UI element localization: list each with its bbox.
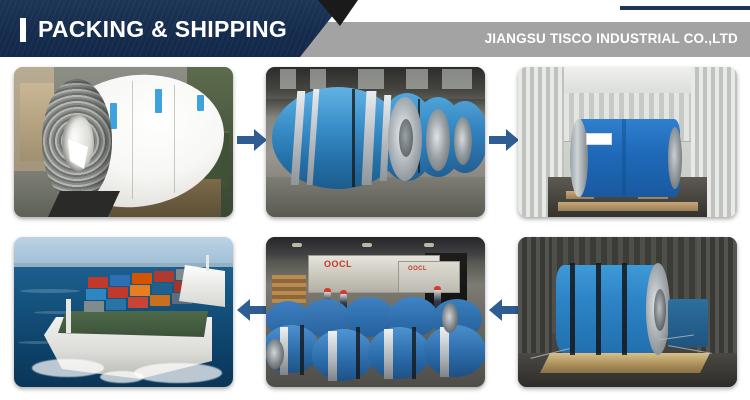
photo-image [266,67,485,217]
photo-container-vessel[interactable] [14,237,233,387]
arrow-loading-to-vessel [237,297,267,323]
photo-image [14,237,233,387]
photo-coil-in-white-container[interactable] [518,67,737,217]
arrow-coil-to-warehouse [237,127,267,153]
photo-gallery: OOCL OOCL [0,57,750,400]
photo-image [14,67,233,217]
page-title: PACKING & SHIPPING [38,14,287,44]
title-accent-tick [20,18,26,42]
company-name: JIANGSU TISCO INDUSTRIAL CO.,LTD [485,29,738,49]
photo-image: OOCL OOCL [266,237,485,387]
container-brand-label: OOCL [324,259,352,269]
photo-oocl-loading[interactable]: OOCL OOCL [266,237,485,387]
photo-image [518,67,737,217]
photo-coil-white-wrapped[interactable] [14,67,233,217]
header-accent-bar [620,6,750,10]
photo-blue-coils-warehouse[interactable] [266,67,485,217]
page-header: PACKING & SHIPPING JIANGSU TISCO INDUSTR… [0,0,750,57]
arrow-warehouse-to-container [489,127,519,153]
photo-image [518,237,737,387]
photo-coil-strapped-pallet[interactable] [518,237,737,387]
arrow-container-to-loading [489,297,519,323]
